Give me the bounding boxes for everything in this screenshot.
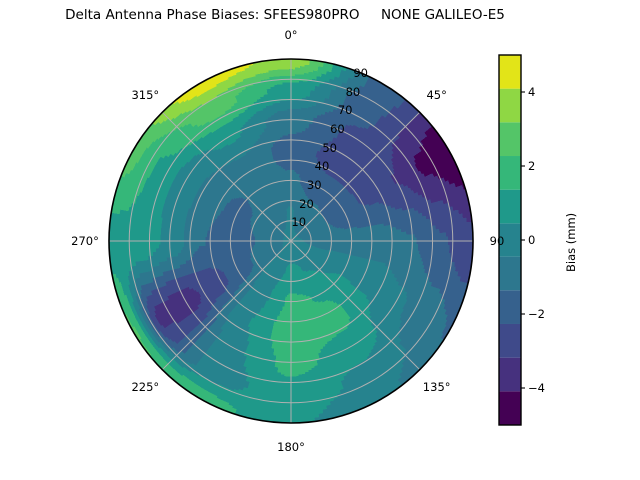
colorbar-swatch: [499, 156, 521, 190]
radial-tick-50: 50: [322, 141, 337, 155]
colorbar-swatch: [499, 122, 521, 156]
radial-tick-10: 10: [291, 215, 306, 229]
azimuth-tick-0: 0°: [284, 28, 297, 42]
colorbar-swatch: [499, 358, 521, 392]
polar-grid-layer: [109, 59, 473, 423]
radial-tick-70: 70: [338, 103, 353, 117]
colorbar-tick-label: −2: [528, 307, 545, 321]
radial-tick-60: 60: [330, 122, 345, 136]
azimuth-tick-45: 45°: [426, 88, 446, 102]
azimuth-tick-315: 315°: [131, 88, 159, 102]
radial-tick-40: 40: [315, 159, 330, 173]
radial-tick-20: 20: [299, 197, 314, 211]
colorbar-tick-label: −4: [528, 381, 545, 395]
azimuth-tick-135: 135°: [423, 380, 451, 394]
colorbar-swatch: [499, 190, 521, 224]
figure-canvas: Delta Antenna Phase Biases: SFEES980PRO …: [0, 0, 640, 480]
colorbar-tick-label: 4: [528, 85, 535, 99]
azimuth-tick-90: 90: [490, 234, 505, 248]
radial-tick-30: 30: [307, 178, 322, 192]
colorbar-swatch: [499, 89, 521, 123]
azimuth-tick-180: 180°: [277, 440, 305, 454]
radial-tick-80: 80: [346, 85, 361, 99]
colorbar-tick-label: 0: [528, 233, 535, 247]
azimuth-tick-270: 270°: [71, 234, 99, 248]
colorbar-swatch: [499, 391, 521, 425]
colorbar-swatch: [499, 257, 521, 291]
page-title: Delta Antenna Phase Biases: SFEES980PRO …: [0, 8, 570, 23]
colorbar-swatch: [499, 324, 521, 358]
azimuth-tick-225: 225°: [131, 380, 159, 394]
colorbar-swatch: [499, 55, 521, 89]
colorbar-axis-label: Bias (mm): [564, 213, 578, 272]
radial-tick-90: 90: [353, 66, 368, 80]
colorbar-tick-label: 2: [528, 159, 535, 173]
colorbar-swatch: [499, 290, 521, 324]
